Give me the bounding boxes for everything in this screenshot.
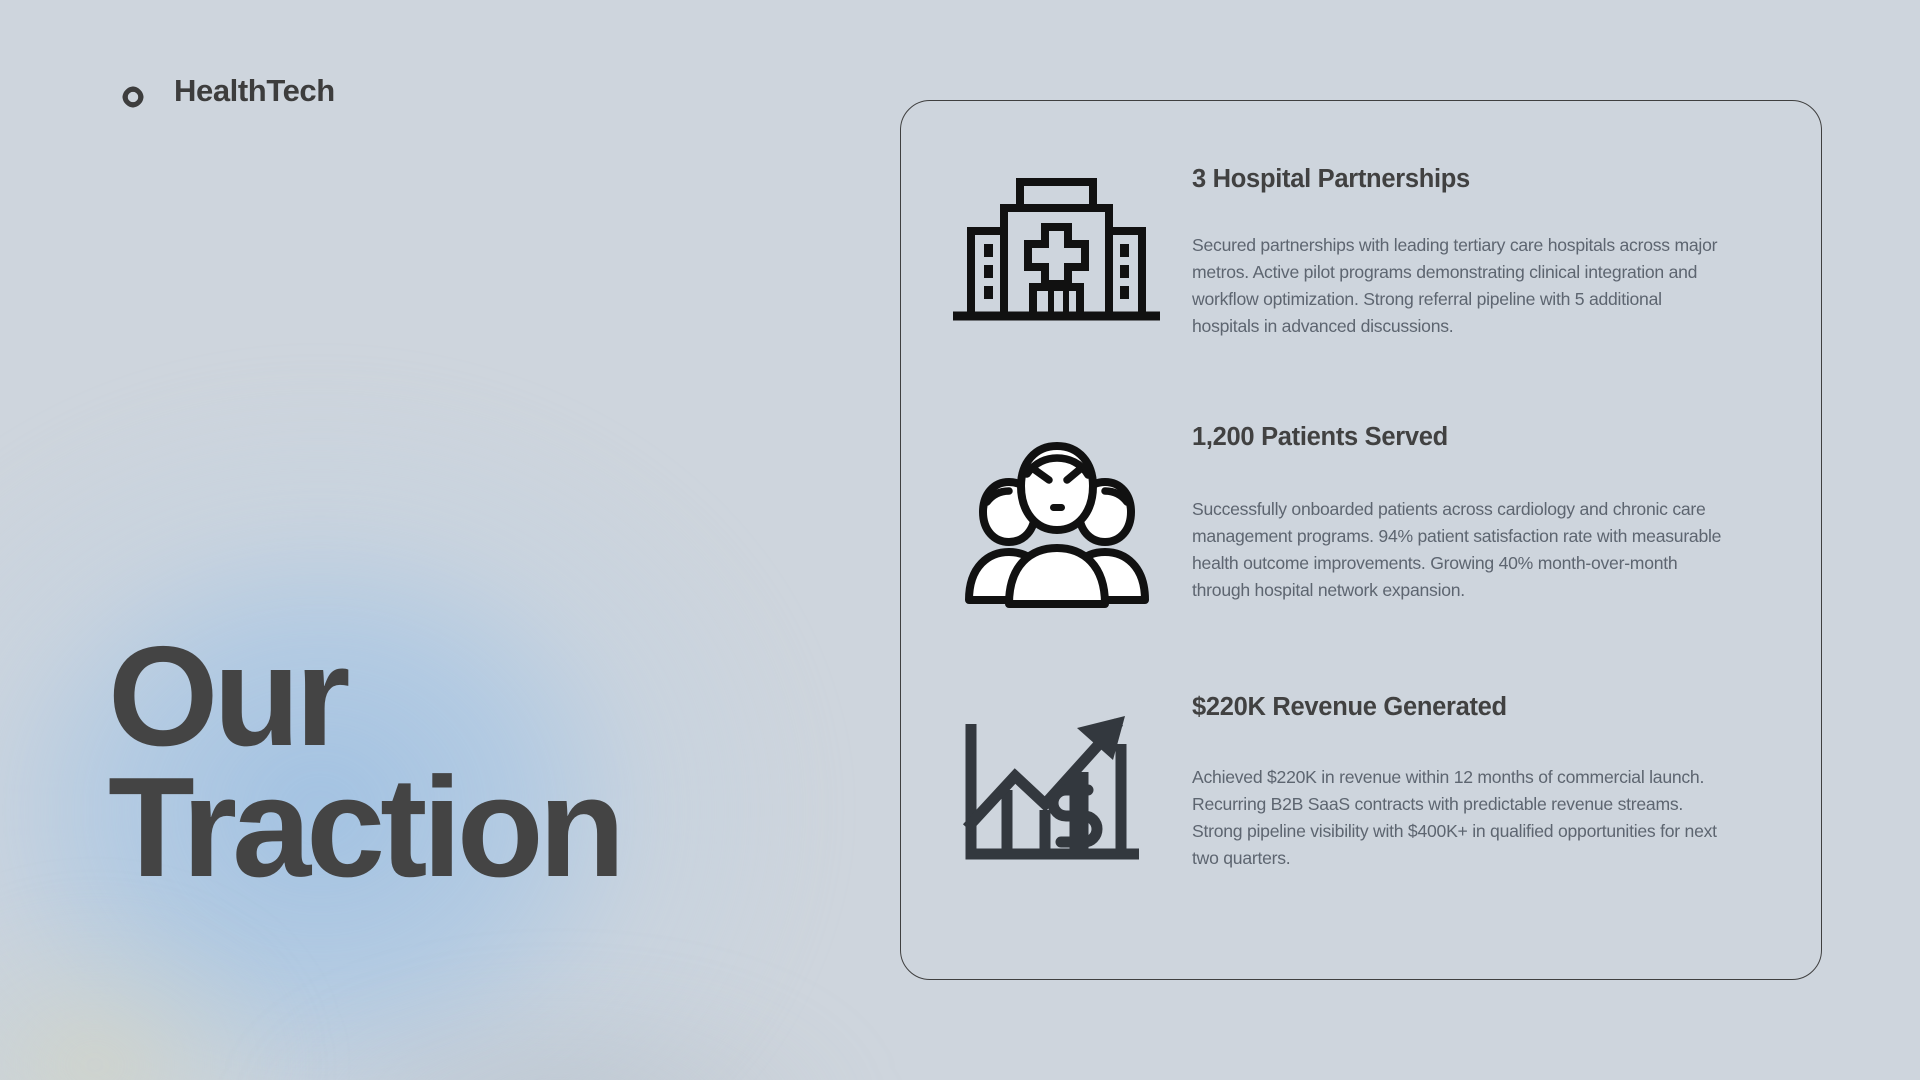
- traction-item-body: Successfully onboarded patients across c…: [1192, 496, 1722, 604]
- traction-item-title: 1,200 Patients Served: [1192, 423, 1777, 452]
- traction-item-text: $220K Revenue Generated Achieved $220K i…: [1192, 689, 1777, 872]
- slide-canvas: HealthTech Our Traction: [0, 0, 1920, 1080]
- traction-item: $220K Revenue Generated Achieved $220K i…: [949, 689, 1777, 879]
- traction-item-body: Achieved $220K in revenue within 12 mont…: [1192, 764, 1722, 872]
- traction-item-body: Secured partnerships with leading tertia…: [1192, 232, 1722, 340]
- hospital-building-icon: [949, 161, 1164, 341]
- interlocking-knot-logo-icon: [110, 74, 156, 125]
- traction-item-text: 3 Hospital Partnerships Secured partners…: [1192, 161, 1777, 340]
- brand-lockup: HealthTech: [110, 72, 400, 125]
- traction-item: 3 Hospital Partnerships Secured partners…: [949, 161, 1777, 341]
- traction-item-title: $220K Revenue Generated: [1192, 693, 1777, 722]
- traction-card: 3 Hospital Partnerships Secured partners…: [900, 100, 1822, 980]
- traction-item: 1,200 Patients Served Successfully onboa…: [949, 419, 1777, 619]
- group-of-people-icon: [949, 419, 1164, 619]
- background-glow-warm: [0, 900, 310, 1080]
- page-title: Our Traction: [108, 632, 620, 893]
- brand-name: HealthTech: [174, 72, 339, 110]
- background-glow-dim: [250, 980, 870, 1080]
- growth-chart-dollar-icon: [949, 689, 1164, 879]
- traction-item-text: 1,200 Patients Served Successfully onboa…: [1192, 419, 1777, 604]
- traction-item-title: 3 Hospital Partnerships: [1192, 165, 1777, 194]
